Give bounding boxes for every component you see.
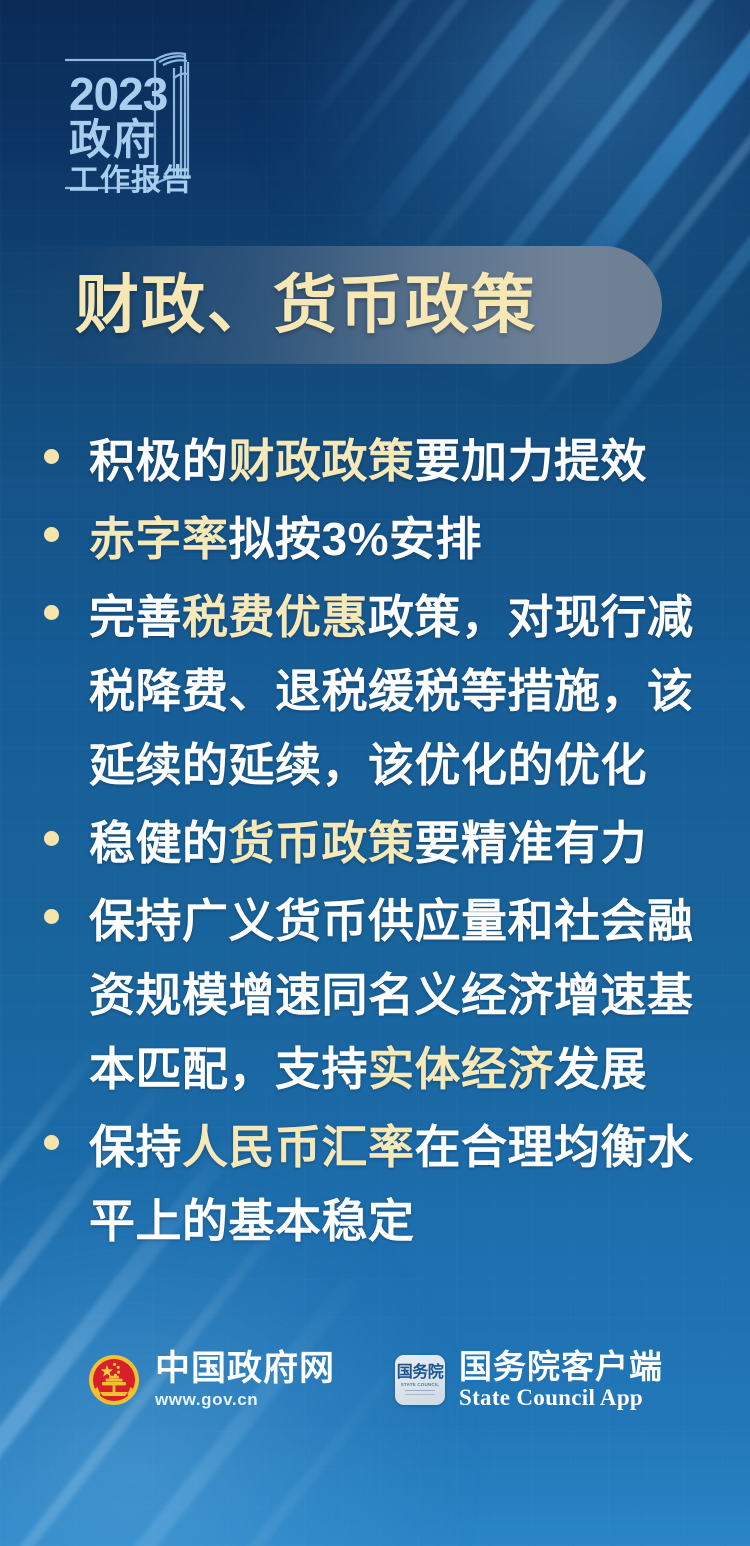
highlight-term: 货币政策 [229,817,415,869]
svg-text:2023: 2023 [69,68,167,120]
bullet-dot-icon [44,527,59,542]
body-term: 完善 [89,591,182,643]
page-title: 财政、货币政策 [75,273,537,337]
policy-bullet-list: 积极的财政政策要加力提效赤字率拟按3%安排完善税费优惠政策，对现行减税降费、退税… [44,424,716,1262]
bullet-dot-icon [44,909,59,924]
body-term: 稳健的 [89,817,229,869]
body-term: 要精准有力 [415,817,648,869]
state-council-app-logo[interactable]: 国务院 STATE COUNCIL 国务院客户端 State Council A… [395,1350,663,1410]
body-term: 积极的 [89,435,229,487]
badge-divider [405,1390,435,1395]
bullet-text: 赤字率拟按3%安排 [89,502,716,576]
national-emblem-icon [87,1353,141,1407]
highlight-term: 人民币汇率 [182,1121,415,1173]
highlight-term: 赤字率 [89,513,229,565]
bullet-dot-icon [44,831,59,846]
state-council-badge-cn: 国务院 [397,1365,444,1381]
state-council-name-cn: 国务院客户端 [459,1350,663,1385]
footer-logos: 中国政府网 www.gov.cn 国务院 STATE COUNCIL 国务院客户… [0,1330,750,1430]
bullet-dot-icon [44,605,59,620]
svg-text:工作报告: 工作报告 [69,164,193,197]
book-icon: 2023 政府 工作报告 [47,38,217,198]
poster-canvas: 2023 政府 工作报告 财政、货币政策 积极的财政政策要加力提效赤字率拟按3%… [0,0,750,1546]
bullet-money-supply: 保持广义货币供应量和社会融资规模增速同名义经济增速基本匹配，支持实体经济发展 [44,884,716,1106]
body-term: 要加力提效 [415,435,648,487]
bullet-text: 积极的财政政策要加力提效 [89,424,716,498]
gov-cn-name: 中国政府网 [155,1350,335,1387]
bullet-text: 保持人民币汇率在合理均衡水平上的基本稳定 [89,1110,716,1258]
gov-cn-url: www.gov.cn [155,1390,335,1410]
bullet-exchange-rate: 保持人民币汇率在合理均衡水平上的基本稳定 [44,1110,716,1258]
highlight-term: 税费优惠 [182,591,368,643]
bullet-tax-relief: 完善税费优惠政策，对现行减税降费、退税缓税等措施，该延续的延续，该优化的优化 [44,580,716,802]
highlight-term: 财政政策 [229,435,415,487]
section-title-banner: 财政、货币政策 [0,246,662,364]
bullet-deficit-rate: 赤字率拟按3%安排 [44,502,716,576]
bullet-text: 完善税费优惠政策，对现行减税降费、退税缓税等措施，该延续的延续，该优化的优化 [89,580,716,802]
body-term: 保持 [89,1121,182,1173]
bullet-text: 保持广义货币供应量和社会融资规模增速同名义经济增速基本匹配，支持实体经济发展 [89,884,716,1106]
state-council-name-en: State Council App [459,1386,663,1410]
svg-text:政府: 政府 [69,116,157,163]
bullet-text: 稳健的货币政策要精准有力 [89,806,716,880]
bullet-monetary-policy: 稳健的货币政策要精准有力 [44,806,716,880]
state-council-badge-icon: 国务院 STATE COUNCIL [395,1355,445,1405]
highlight-term: 实体经济 [368,1043,554,1095]
gov-cn-logo[interactable]: 中国政府网 www.gov.cn [87,1350,335,1410]
state-council-badge-en: STATE COUNCIL [401,1383,439,1388]
bullet-dot-icon [44,1135,59,1150]
report-logo: 2023 政府 工作报告 [47,38,217,198]
body-term: 发展 [554,1043,647,1095]
bullet-fiscal-policy: 积极的财政政策要加力提效 [44,424,716,498]
bullet-dot-icon [44,449,59,464]
body-term: 拟按3%安排 [229,513,482,565]
